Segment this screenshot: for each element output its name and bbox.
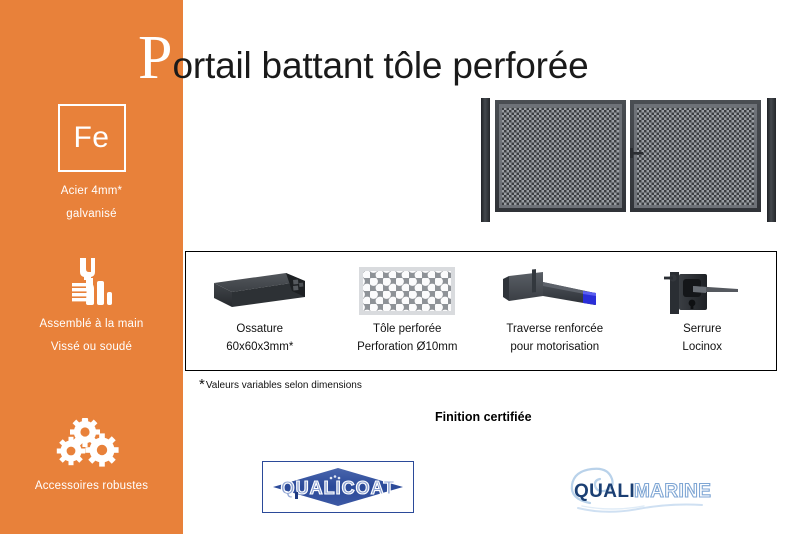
feature-caption-lock-2: Locinox xyxy=(629,339,777,355)
locinox-lock-icon xyxy=(629,261,777,321)
sidebar-block-assembly: Assemblé à la main Vissé ou soudé xyxy=(0,255,183,355)
feature-caption-motorisation-1: Traverse renforcée xyxy=(481,321,629,337)
qualimarine-text-quali: QUALI xyxy=(574,481,635,502)
page-title-capital: P xyxy=(138,24,172,92)
product-sheet: Fe Acier 4mm* galvanisé xyxy=(0,0,800,534)
fe-element-square-icon: Fe xyxy=(58,104,126,172)
wrench-hand-assembly-icon xyxy=(0,255,183,307)
sidebar-label-steel-1: Acier 4mm* xyxy=(0,184,183,199)
gate-post-left xyxy=(481,98,490,222)
feature-item-motorisation: Traverse renforcée pour motorisation xyxy=(481,252,629,355)
fe-symbol: Fe xyxy=(73,123,109,153)
feature-item-frame: Ossature 60x60x3mm* xyxy=(186,252,334,355)
gate-post-right xyxy=(767,98,776,222)
feature-caption-motorisation-2: pour motorisation xyxy=(481,339,629,355)
feature-caption-frame-2: 60x60x3mm* xyxy=(186,339,334,355)
qualimarine-text-marine: MARINE xyxy=(634,481,711,502)
sidebar-block-steel: Fe Acier 4mm* galvanisé xyxy=(0,104,183,222)
features-box: Ossature 60x60x3mm* xyxy=(185,251,777,371)
page-title-rest: ortail battant tôle perforée xyxy=(172,45,588,86)
sidebar-block-accessories: Accessoires robustes xyxy=(0,417,183,494)
feature-caption-sheet-1: Tôle perforée xyxy=(334,321,482,337)
gate-illustration xyxy=(479,90,779,222)
gears-icon xyxy=(0,417,183,469)
qualicoat-logo: QUALICOAT xyxy=(262,461,414,513)
sidebar-label-assembly-2: Vissé ou soudé xyxy=(0,340,183,355)
sidebar-label-steel-2: galvanisé xyxy=(0,207,183,222)
feature-item-sheet: Tôle perforée Perforation Ø10mm xyxy=(334,252,482,355)
gate-leaf-right xyxy=(630,100,761,212)
footnote-star: * xyxy=(199,376,205,393)
page-title: Portail battant tôle perforée xyxy=(138,27,589,89)
sidebar-label-accessories-1: Accessoires robustes xyxy=(0,479,183,494)
gate-leaf-left xyxy=(495,100,626,212)
perforated-sheet-sample-icon xyxy=(334,261,482,321)
certification-title: Finition certifiée xyxy=(435,410,532,424)
footnote-text: Valeurs variables selon dimensions xyxy=(206,380,362,391)
motorisation-crossbar-icon xyxy=(481,261,629,321)
footnote: *Valeurs variables selon dimensions xyxy=(199,380,362,391)
feature-caption-lock-1: Serrure xyxy=(629,321,777,337)
qualimarine-logo: QUALI MARINE xyxy=(560,458,715,516)
steel-frame-profile-icon xyxy=(186,261,334,321)
feature-caption-sheet-2: Perforation Ø10mm xyxy=(334,339,482,355)
sidebar-label-assembly-1: Assemblé à la main xyxy=(0,317,183,332)
feature-item-lock: Serrure Locinox xyxy=(629,252,777,355)
feature-caption-frame-1: Ossature xyxy=(186,321,334,337)
